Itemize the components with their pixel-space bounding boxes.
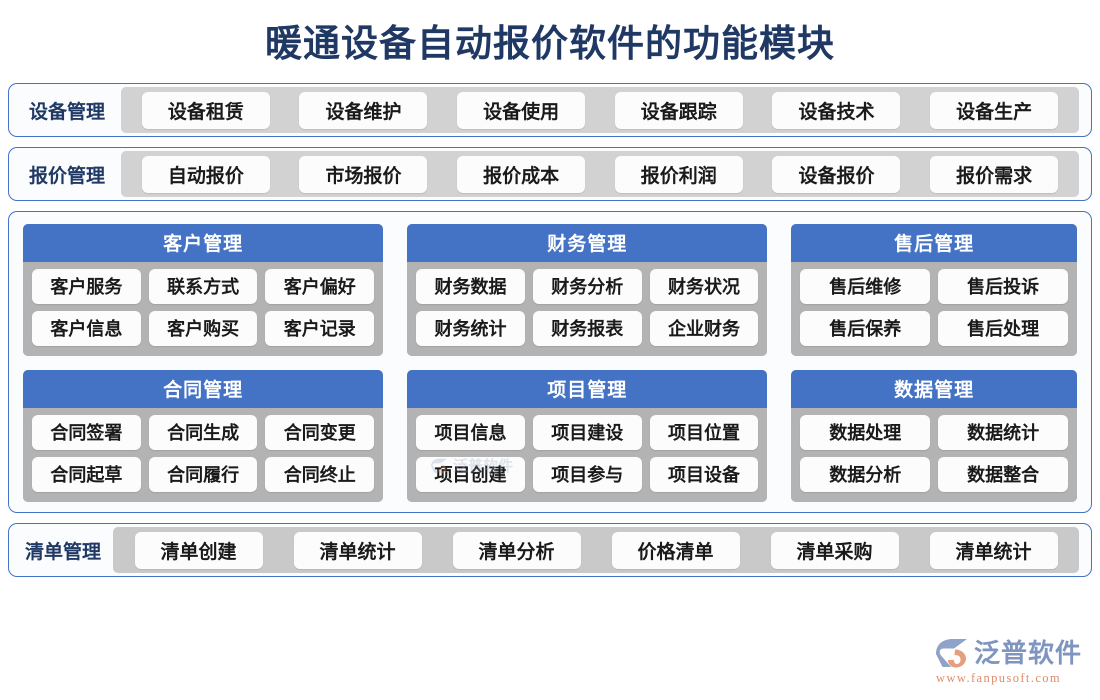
- card-body: 售后维修 售后投诉 售后保养 售后处理: [791, 262, 1077, 356]
- card-title: 数据管理: [791, 370, 1077, 408]
- card-body: 数据处理 数据统计 数据分析 数据整合: [791, 408, 1077, 502]
- card-chip[interactable]: 售后维修: [800, 269, 930, 304]
- card-title: 售后管理: [791, 224, 1077, 262]
- card-body: 合同签署 合同生成 合同变更 合同起草 合同履行 合同终止: [23, 408, 383, 502]
- card-chip[interactable]: 合同签署: [32, 415, 141, 450]
- card-row: 财务数据 财务分析 财务状况: [416, 269, 758, 304]
- card-chip[interactable]: 售后处理: [938, 311, 1068, 346]
- chip-quotation-0[interactable]: 自动报价: [142, 156, 270, 193]
- row-chip-strip-equipment: 设备租赁 设备维护 设备使用 设备跟踪 设备技术 设备生产: [121, 87, 1079, 133]
- module-grid: 客户管理 客户服务 联系方式 客户偏好 客户信息 客户购买 客户记录 财务管理 …: [23, 224, 1077, 502]
- card-row: 数据处理 数据统计: [800, 415, 1068, 450]
- chip-quotation-3[interactable]: 报价利润: [615, 156, 743, 193]
- row-band: 设备管理 设备租赁 设备维护 设备使用 设备跟踪 设备技术 设备生产: [9, 84, 1091, 136]
- section-module-grid: 客户管理 客户服务 联系方式 客户偏好 客户信息 客户购买 客户记录 财务管理 …: [8, 211, 1092, 513]
- card-row: 合同起草 合同履行 合同终止: [32, 457, 374, 492]
- page-title: 暖通设备自动报价软件的功能模块: [0, 0, 1100, 83]
- chip-equipment-5[interactable]: 设备生产: [930, 92, 1058, 129]
- card-chip[interactable]: 售后保养: [800, 311, 930, 346]
- card-row: 项目信息 项目建设 项目位置: [416, 415, 758, 450]
- card-chip[interactable]: 客户服务: [32, 269, 141, 304]
- card-finance-management: 财务管理 财务数据 财务分析 财务状况 财务统计 财务报表 企业财务: [407, 224, 767, 356]
- row-chip-strip-quotation: 自动报价 市场报价 报价成本 报价利润 设备报价 报价需求: [121, 151, 1079, 197]
- logo-url: www.fanpusoft.com: [936, 671, 1061, 686]
- row-label-list: 清单管理: [13, 527, 113, 573]
- chip-equipment-4[interactable]: 设备技术: [772, 92, 900, 129]
- card-row: 客户信息 客户购买 客户记录: [32, 311, 374, 346]
- card-project-management: 项目管理 项目信息 项目建设 项目位置 项目创建 项目参与 项目设备: [407, 370, 767, 502]
- card-chip[interactable]: 数据分析: [800, 457, 930, 492]
- card-chip[interactable]: 数据处理: [800, 415, 930, 450]
- card-chip[interactable]: 合同生成: [149, 415, 258, 450]
- card-chip[interactable]: 项目位置: [650, 415, 759, 450]
- card-title: 合同管理: [23, 370, 383, 408]
- card-chip[interactable]: 售后投诉: [938, 269, 1068, 304]
- row-chip-strip-list: 清单创建 清单统计 清单分析 价格清单 清单采购 清单统计: [113, 527, 1079, 573]
- card-chip[interactable]: 数据统计: [938, 415, 1068, 450]
- card-chip[interactable]: 合同履行: [149, 457, 258, 492]
- chip-equipment-2[interactable]: 设备使用: [457, 92, 585, 129]
- logo-brand-text: 泛普软件: [974, 640, 1082, 666]
- chip-list-0[interactable]: 清单创建: [135, 532, 263, 569]
- section-equipment-management: 设备管理 设备租赁 设备维护 设备使用 设备跟踪 设备技术 设备生产: [8, 83, 1092, 137]
- card-chip[interactable]: 项目参与: [533, 457, 642, 492]
- row-label-quotation: 报价管理: [13, 151, 121, 197]
- footer-logo: 泛普软件 www.fanpusoft.com: [934, 638, 1082, 686]
- card-chip[interactable]: 项目设备: [650, 457, 759, 492]
- chip-equipment-3[interactable]: 设备跟踪: [615, 92, 743, 129]
- card-chip[interactable]: 客户信息: [32, 311, 141, 346]
- card-chip[interactable]: 项目信息: [416, 415, 525, 450]
- card-chip[interactable]: 合同起草: [32, 457, 141, 492]
- chip-quotation-5[interactable]: 报价需求: [930, 156, 1058, 193]
- card-chip[interactable]: 项目创建: [416, 457, 525, 492]
- chip-quotation-1[interactable]: 市场报价: [299, 156, 427, 193]
- logo-line: 泛普软件: [934, 638, 1082, 668]
- card-title: 项目管理: [407, 370, 767, 408]
- card-chip[interactable]: 客户购买: [149, 311, 258, 346]
- chip-equipment-0[interactable]: 设备租赁: [142, 92, 270, 129]
- card-chip[interactable]: 财务报表: [533, 311, 642, 346]
- card-row: 合同签署 合同生成 合同变更: [32, 415, 374, 450]
- card-row: 项目创建 项目参与 项目设备: [416, 457, 758, 492]
- card-title: 客户管理: [23, 224, 383, 262]
- chip-list-2[interactable]: 清单分析: [453, 532, 581, 569]
- card-body: 客户服务 联系方式 客户偏好 客户信息 客户购买 客户记录: [23, 262, 383, 356]
- card-row: 客户服务 联系方式 客户偏好: [32, 269, 374, 304]
- card-chip[interactable]: 数据整合: [938, 457, 1068, 492]
- card-aftersales-management: 售后管理 售后维修 售后投诉 售后保养 售后处理: [791, 224, 1077, 356]
- chip-equipment-1[interactable]: 设备维护: [299, 92, 427, 129]
- chip-list-4[interactable]: 清单采购: [771, 532, 899, 569]
- card-chip[interactable]: 项目建设: [533, 415, 642, 450]
- chip-quotation-2[interactable]: 报价成本: [457, 156, 585, 193]
- row-label-equipment: 设备管理: [13, 87, 121, 133]
- card-title: 财务管理: [407, 224, 767, 262]
- card-contract-management: 合同管理 合同签署 合同生成 合同变更 合同起草 合同履行 合同终止: [23, 370, 383, 502]
- card-chip[interactable]: 财务统计: [416, 311, 525, 346]
- fanpu-logo-icon: [934, 638, 968, 668]
- card-customer-management: 客户管理 客户服务 联系方式 客户偏好 客户信息 客户购买 客户记录: [23, 224, 383, 356]
- card-body: 项目信息 项目建设 项目位置 项目创建 项目参与 项目设备: [407, 408, 767, 502]
- section-quotation-management: 报价管理 自动报价 市场报价 报价成本 报价利润 设备报价 报价需求: [8, 147, 1092, 201]
- card-row: 数据分析 数据整合: [800, 457, 1068, 492]
- card-chip[interactable]: 客户偏好: [265, 269, 374, 304]
- chip-list-1[interactable]: 清单统计: [294, 532, 422, 569]
- card-chip[interactable]: 客户记录: [265, 311, 374, 346]
- chip-quotation-4[interactable]: 设备报价: [772, 156, 900, 193]
- card-chip[interactable]: 合同变更: [265, 415, 374, 450]
- card-chip[interactable]: 财务状况: [650, 269, 759, 304]
- chip-list-5[interactable]: 清单统计: [930, 532, 1058, 569]
- chip-list-3[interactable]: 价格清单: [612, 532, 740, 569]
- card-row: 售后保养 售后处理: [800, 311, 1068, 346]
- card-body: 财务数据 财务分析 财务状况 财务统计 财务报表 企业财务: [407, 262, 767, 356]
- card-chip[interactable]: 财务数据: [416, 269, 525, 304]
- row-band: 清单管理 清单创建 清单统计 清单分析 价格清单 清单采购 清单统计: [9, 524, 1091, 576]
- card-row: 财务统计 财务报表 企业财务: [416, 311, 758, 346]
- card-data-management: 数据管理 数据处理 数据统计 数据分析 数据整合: [791, 370, 1077, 502]
- card-chip[interactable]: 财务分析: [533, 269, 642, 304]
- row-band: 报价管理 自动报价 市场报价 报价成本 报价利润 设备报价 报价需求: [9, 148, 1091, 200]
- section-list-management: 清单管理 清单创建 清单统计 清单分析 价格清单 清单采购 清单统计: [8, 523, 1092, 577]
- card-row: 售后维修 售后投诉: [800, 269, 1068, 304]
- card-chip[interactable]: 合同终止: [265, 457, 374, 492]
- card-chip[interactable]: 联系方式: [149, 269, 258, 304]
- card-chip[interactable]: 企业财务: [650, 311, 759, 346]
